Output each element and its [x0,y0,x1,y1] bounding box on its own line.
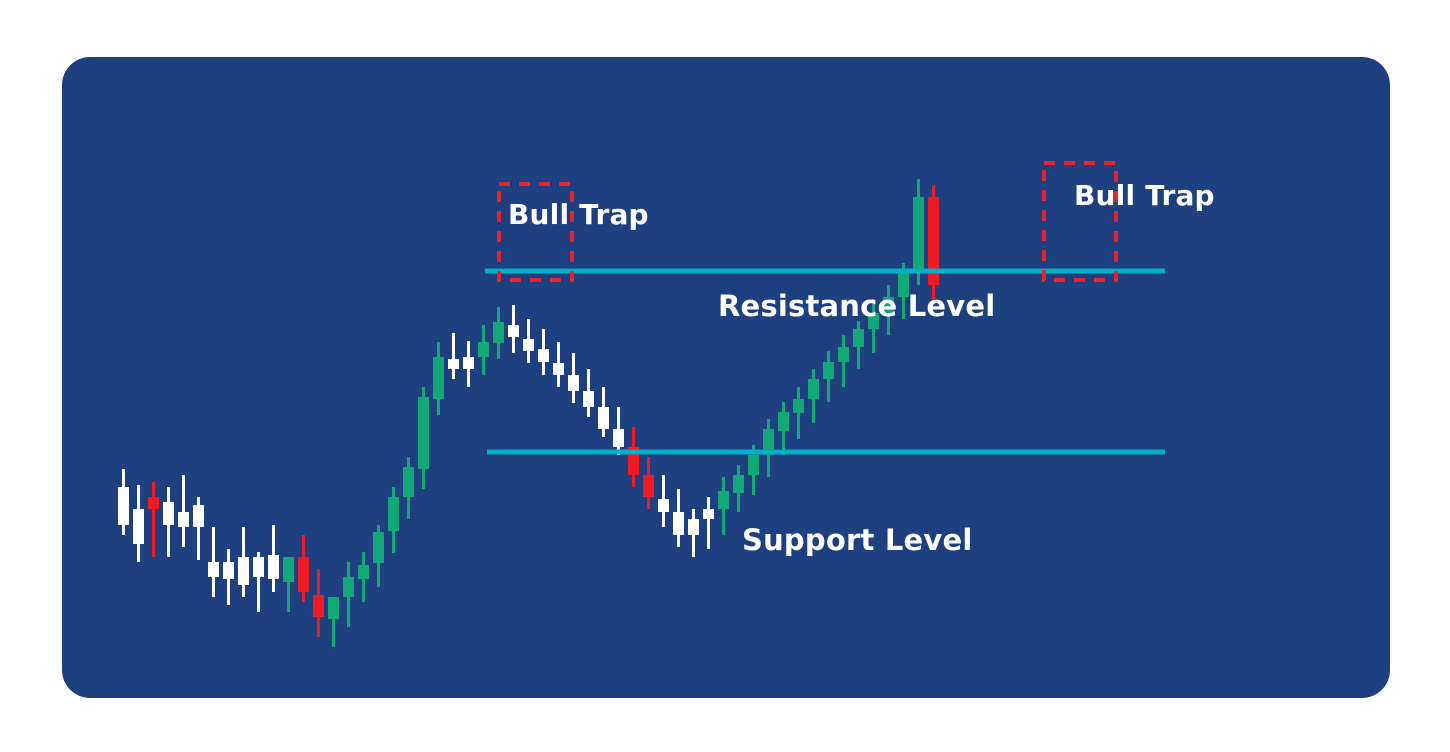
candlestick [523,319,534,363]
candlestick [343,562,354,627]
candlestick [658,475,669,527]
candle-body [703,509,714,519]
candle-body [283,557,294,582]
candlestick [433,342,444,415]
candle-body [298,557,309,592]
candlestick [313,569,324,637]
candlestick [163,487,174,557]
candle-body [418,397,429,469]
candle-body [433,357,444,399]
candlestick [808,369,819,423]
candle-body [253,557,264,577]
candle-body [313,595,324,617]
candlestick [463,341,474,387]
candle-body [613,429,624,447]
candlestick [763,419,774,477]
candles-layer [118,179,939,647]
candle-body [463,357,474,369]
candlestick [238,527,249,597]
support-level-label: Support Level [742,523,973,557]
bull-trap-label-1: Bull Trap [508,198,649,231]
candlestick [718,477,729,535]
candle-wick [182,475,185,547]
candle-body [343,577,354,597]
candle-body [478,342,489,357]
candlestick [388,487,399,553]
candlestick [208,527,219,597]
candle-body [748,455,759,475]
candle-body [778,412,789,431]
candle-body [913,197,924,271]
candle-body [238,557,249,585]
candle-body [598,407,609,429]
candlestick [193,497,204,560]
candle-body [403,467,414,497]
candlestick [373,525,384,587]
candle-body [853,329,864,347]
page-root: Bull Trap Bull Trap Resistance Level Sup… [0,0,1450,752]
candlestick [223,549,234,605]
candlestick [178,475,189,547]
candlestick [493,307,504,359]
candle-body [553,363,564,375]
candle-wick [152,482,155,557]
candle-body [793,399,804,413]
candle-body [733,475,744,493]
candlestick [673,489,684,547]
level-line [485,269,1165,274]
candlestick [253,552,264,612]
bull-trap-label-2: Bull Trap [1074,179,1215,212]
resistance-level-label: Resistance Level [718,289,995,323]
candle-body [808,379,819,399]
candlestick [538,329,549,375]
candle-body [688,519,699,535]
candlestick [568,353,579,403]
candle-body [358,565,369,579]
candle-body [583,391,594,407]
candle-wick [452,333,455,379]
level-line [487,450,1165,455]
candle-body [508,325,519,337]
candle-body [643,475,654,497]
candle-wick [707,497,710,549]
candle-body [118,487,129,525]
chart-card: Bull Trap Bull Trap Resistance Level Sup… [62,57,1390,698]
candle-body [568,375,579,391]
candlestick [403,457,414,519]
candlestick [793,387,804,439]
candlestick [583,369,594,417]
candle-body [493,322,504,343]
candle-body [268,555,279,579]
candlestick [628,427,639,487]
candlestick [328,597,339,647]
candle-body [163,502,174,525]
candlestick [838,335,849,387]
candlestick [268,525,279,592]
candlestick [283,557,294,612]
candle-body [388,497,399,531]
candle-body [673,512,684,535]
candlestick [478,325,489,375]
candlestick [148,482,159,557]
candle-body [658,499,669,512]
candlestick [778,402,789,455]
candle-body [448,359,459,369]
candlestick [358,552,369,602]
candlestick [598,387,609,437]
candle-body [208,562,219,577]
candle-body [178,512,189,527]
candlestick-chart [62,57,1390,698]
candlestick [553,342,564,387]
candlestick [448,333,459,379]
candlestick [508,305,519,353]
candlestick [823,351,834,402]
candle-body [373,532,384,563]
candlestick [133,485,144,562]
candle-body [328,597,339,619]
candlestick [688,509,699,557]
candle-body [193,505,204,527]
candle-body [718,491,729,509]
candle-body [838,347,849,362]
candle-body [823,362,834,379]
candlestick [733,465,744,512]
candle-body [148,497,159,509]
candlestick [118,469,129,535]
candle-body [223,562,234,579]
candlestick [418,387,429,489]
candlestick [703,497,714,549]
candle-body [538,349,549,362]
candlestick [853,321,864,369]
candlestick [928,185,939,302]
candlestick [613,407,624,455]
candle-body [133,509,144,544]
candle-body [523,339,534,351]
candlestick [298,535,309,602]
candlestick [643,457,654,509]
